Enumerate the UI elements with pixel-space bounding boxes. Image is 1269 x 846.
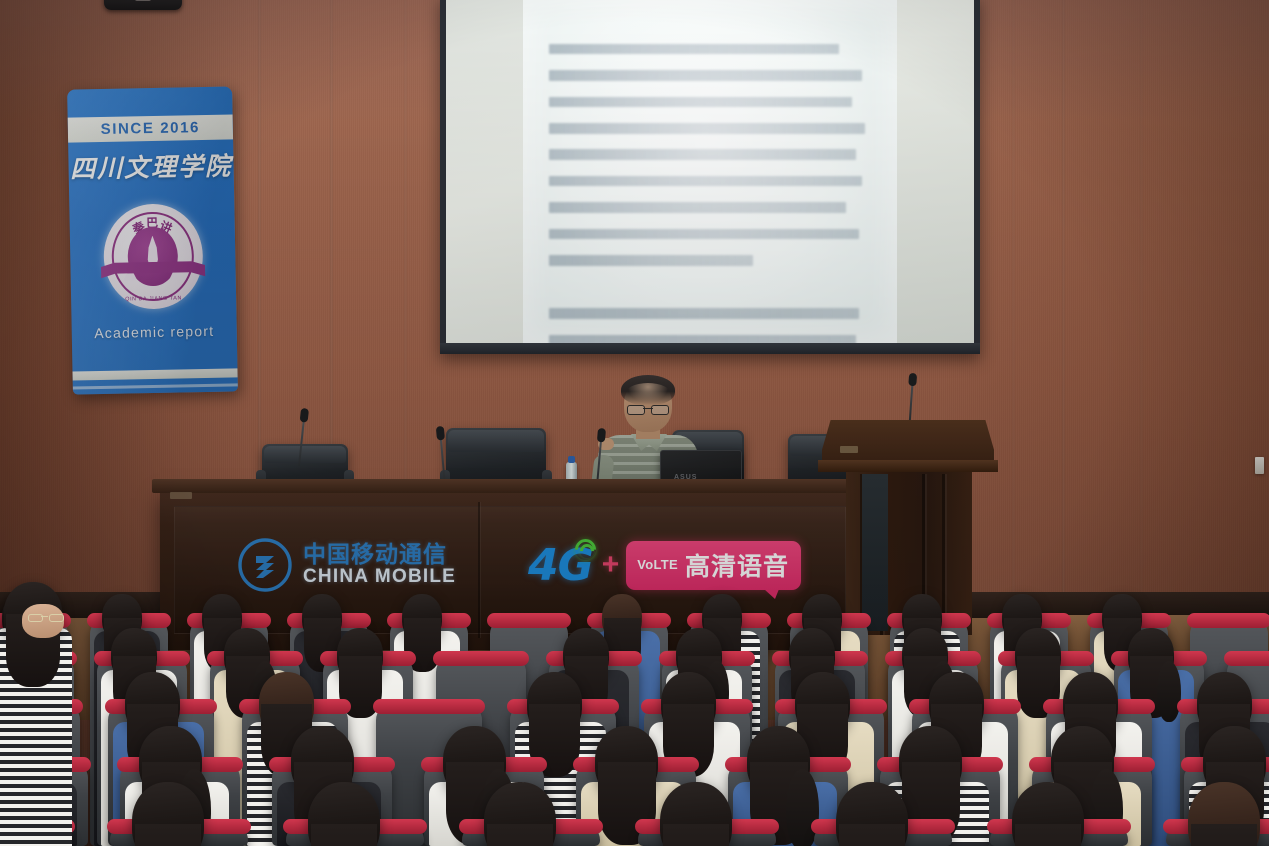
audience-head [595,726,658,796]
projected-text-lines [549,38,879,320]
audience-hair [135,824,201,846]
projected-text-line [549,329,879,344]
projected-text-line [549,196,879,219]
projected-text-line [549,223,879,246]
audience-head [563,628,609,681]
audience-hair [1191,824,1257,846]
audience-head [660,782,732,846]
projected-text-line [549,64,879,87]
audience-hair [487,824,553,846]
screen-frame-bottom [440,343,980,354]
projected-text-line [549,117,879,140]
ceiling-speaker-icon [104,0,182,10]
glasses-lens-left [627,405,645,415]
audience-head [302,594,342,640]
audience-head [1015,628,1061,681]
lecture-hall-photo: SINCE 2016 四川文理学院 秦 巴 讲 QIN BA JIANG TAN… [0,0,1269,846]
audience-head [125,672,180,734]
seat-piping [1187,613,1269,628]
text-line-mark [549,123,866,134]
audience-head [836,782,908,846]
projected-text-line [549,38,879,61]
table-surface [152,479,870,493]
text-line-mark [549,44,839,55]
audience-head [259,672,314,734]
audience-head [1188,782,1260,846]
seat-piping [433,651,529,666]
wifi-signal-icon [570,536,596,560]
speaker-glasses-icon [627,405,669,413]
projected-image [523,0,898,344]
china-mobile-name-cn: 中国移动通信 [303,544,456,567]
audience-head [337,628,383,681]
audience-head [602,594,642,640]
screen-surface [446,0,974,344]
text-line-mark [549,70,862,81]
audience-head [484,782,556,846]
audience-head [402,594,442,640]
glasses-lens-right [651,405,669,415]
projected-text-line [549,91,879,114]
projected-text-line [549,249,879,272]
event-banner: SINCE 2016 四川文理学院 秦 巴 讲 QIN BA JIANG TAN… [67,86,238,394]
table-plaque [170,492,192,499]
projected-text-line [549,170,879,193]
speaker-grille [135,0,151,1]
audience-hair [839,824,905,846]
audience-hair [1015,824,1081,846]
seat-piping [1224,651,1269,666]
wifi-arc-large [570,534,600,564]
audience-head [308,782,380,846]
audience-head [1012,782,1084,846]
glasses-bridge [41,616,48,617]
wall-light-switch[interactable] [1255,457,1264,474]
audience-head [132,782,204,846]
audience-hair [311,824,377,846]
audience-head [795,672,850,734]
seat-piping [373,699,485,714]
projected-text-line [549,276,879,299]
audience-head [527,672,582,734]
bottle-cap [568,456,575,463]
volte-label: VoLTE [637,557,678,572]
text-line-mark [549,202,846,213]
chair-headrest [448,430,544,452]
text-line-mark [549,308,859,319]
audience-head [899,726,962,796]
chair-headrest [264,446,346,463]
projected-text-line [549,302,879,325]
audience-seating [0,576,1269,846]
glasses-lens-right [49,614,64,622]
text-line-mark [549,97,853,108]
audience-head [661,672,716,734]
speaker-hair [621,375,675,405]
projected-text-line [549,144,879,167]
audience-head [929,672,984,734]
audience-glasses-icon [28,614,64,620]
lectern-lip [818,460,998,472]
text-line-mark [549,176,862,187]
text-line-mark [549,255,754,266]
audience-hair [663,824,729,846]
seat-piping [487,613,571,628]
text-line-mark [549,149,856,160]
audience-head [1063,672,1118,734]
audience-head [1197,672,1252,734]
projection-screen [440,0,980,354]
banner-shading [67,86,238,394]
lectern-plaque [840,446,858,453]
audience-ponytail [1157,661,1181,722]
glasses-bridge [643,408,653,409]
text-line-mark [549,229,859,240]
